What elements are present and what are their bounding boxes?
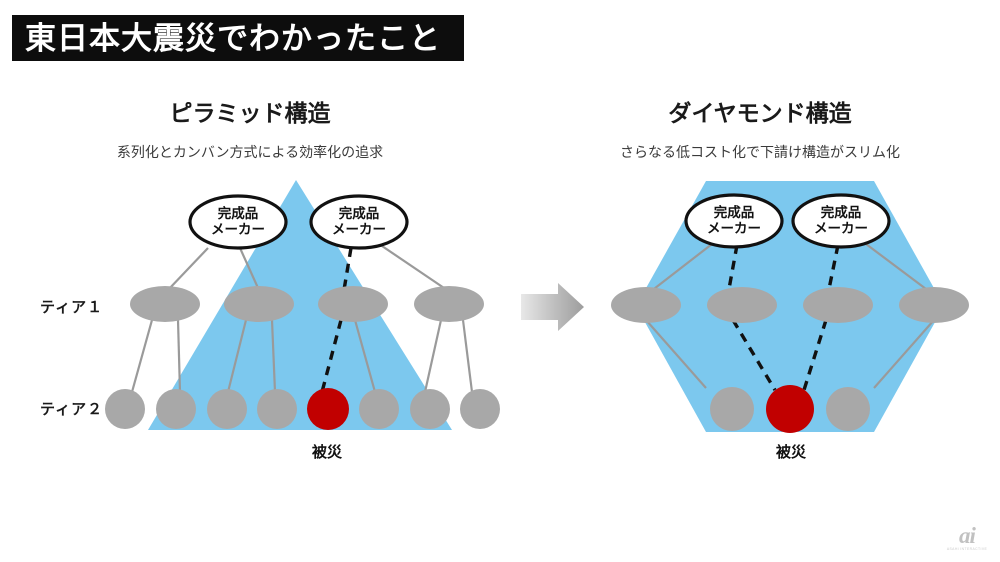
node-tier2[interactable] [105,389,145,429]
node-tier2[interactable] [410,389,450,429]
maker-bubble-left-2[interactable] [311,196,407,248]
maker-bubble-right-1[interactable] [686,195,782,247]
node-tier2[interactable] [257,389,297,429]
transition-arrow-icon [521,283,584,331]
node-tier1[interactable] [611,287,681,323]
node-tier2[interactable] [710,387,754,431]
node-tier2-damaged[interactable] [307,388,349,430]
right-tier2-nodes [710,385,870,433]
damage-label-left: 被災 [267,441,387,462]
node-tier2-damaged[interactable] [766,385,814,433]
node-tier1[interactable] [224,286,294,322]
watermark-subtext: ASAHI INTERACTIVE [944,548,990,551]
node-tier2[interactable] [207,389,247,429]
node-tier1[interactable] [707,287,777,323]
watermark-logo: ai ASAHI INTERACTIVE [944,524,990,554]
node-tier2[interactable] [359,389,399,429]
maker-bubble-left-1[interactable] [190,196,286,248]
node-tier2[interactable] [460,389,500,429]
node-tier1[interactable] [803,287,873,323]
watermark-mark: ai [944,524,990,547]
supply-chain-diagram [0,0,1000,562]
node-tier1[interactable] [318,286,388,322]
tier1-row-label: ティア１ [40,296,103,317]
node-tier2[interactable] [156,389,196,429]
node-tier1[interactable] [899,287,969,323]
tier2-row-label: ティア２ [40,398,103,419]
node-tier2[interactable] [826,387,870,431]
node-tier1[interactable] [414,286,484,322]
maker-bubble-right-2[interactable] [793,195,889,247]
node-tier1[interactable] [130,286,200,322]
damage-label-right: 被災 [731,441,851,462]
